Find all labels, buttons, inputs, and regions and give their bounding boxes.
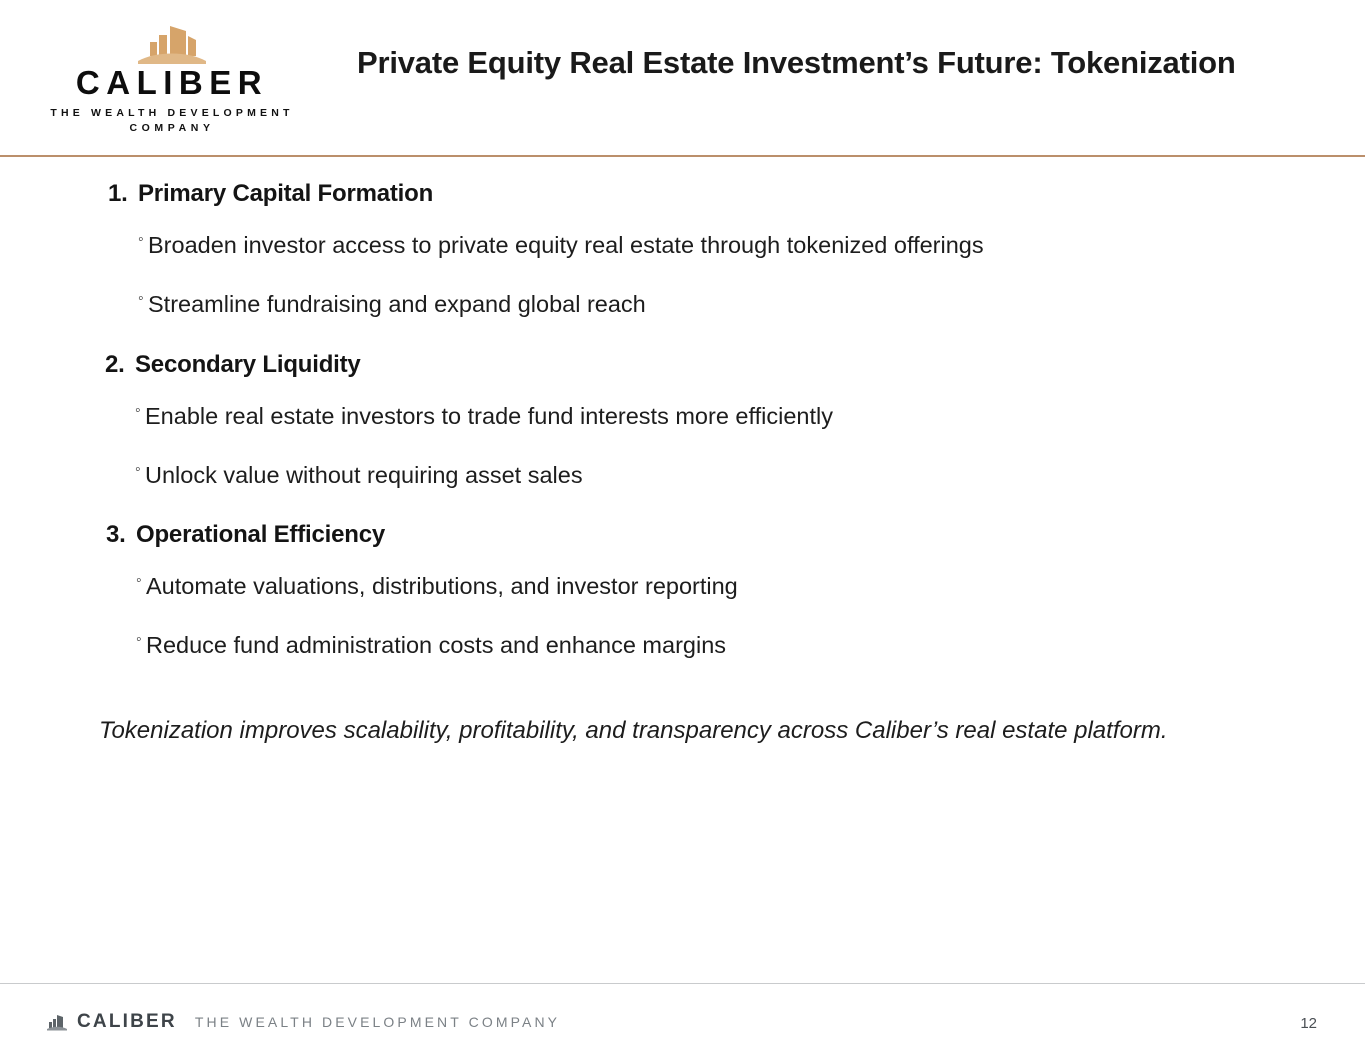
numbered-item-2: 2. Secondary Liquidity ◦ Enable real est… (99, 347, 1365, 494)
list-item-text: Automate valuations, distributions, and … (146, 569, 1191, 604)
brand-logo: CALIBER THE WEALTH DEVELOPMENT COMPANY (46, 22, 298, 138)
slide: CALIBER THE WEALTH DEVELOPMENT COMPANY P… (0, 0, 1365, 1055)
footer-brand-name: CALIBER (77, 1011, 177, 1033)
numbered-item-3-label: Operational Efficiency (136, 517, 385, 553)
hollow-circle-bullet-icon: ◦ (102, 287, 148, 311)
list-item: ◦ Automate valuations, distributions, an… (100, 569, 1365, 604)
logo-wordmark: CALIBER (76, 66, 268, 101)
hollow-circle-bullet-icon: ◦ (100, 628, 146, 652)
numbered-item-3-bullets: ◦ Automate valuations, distributions, an… (100, 569, 1365, 664)
hollow-circle-bullet-icon: ◦ (102, 228, 148, 252)
list-item: ◦ Unlock value without requiring asset s… (99, 458, 1365, 493)
list-item-text: Reduce fund administration costs and enh… (146, 628, 1191, 663)
list-item: ◦ Enable real estate investors to trade … (99, 399, 1365, 434)
footer-brand: CALIBER THE WEALTH DEVELOPMENT COMPANY (46, 1011, 560, 1033)
footer-divider (0, 983, 1365, 984)
list-item-text: Enable real estate investors to trade fu… (145, 399, 1190, 434)
numbered-item-2-bullets: ◦ Enable real estate investors to trade … (99, 399, 1365, 494)
slide-header: CALIBER THE WEALTH DEVELOPMENT COMPANY P… (0, 0, 1365, 156)
numbered-item-1-label: Primary Capital Formation (138, 176, 433, 212)
hollow-circle-bullet-icon: ◦ (99, 458, 145, 482)
numbered-item-2-label: Secondary Liquidity (135, 347, 361, 383)
hollow-circle-bullet-icon: ◦ (100, 569, 146, 593)
logo-tagline-line2: COMPANY (129, 122, 214, 134)
numbered-item-1-heading: 1. Primary Capital Formation (102, 176, 1365, 212)
numbered-item-3: 3. Operational Efficiency ◦ Automate val… (100, 517, 1365, 664)
hollow-circle-bullet-icon: ◦ (99, 399, 145, 423)
logo-tagline-line1: THE WEALTH DEVELOPMENT (50, 107, 293, 119)
closing-statement: Tokenization improves scalability, profi… (99, 714, 1299, 749)
page-number: 12 (1300, 1015, 1317, 1032)
numbered-item-3-heading: 3. Operational Efficiency (100, 517, 1365, 553)
slide-body: 1. Primary Capital Formation ◦ Broaden i… (0, 176, 1365, 748)
numbered-item-3-number: 3. (100, 517, 136, 553)
list-item: ◦ Broaden investor access to private equ… (102, 228, 1365, 263)
list-item-text: Unlock value without requiring asset sal… (145, 458, 1190, 493)
footer-tagline: THE WEALTH DEVELOPMENT COMPANY (195, 1014, 560, 1030)
list-item: ◦ Streamline fundraising and expand glob… (102, 287, 1365, 322)
numbered-item-2-number: 2. (99, 347, 135, 383)
numbered-item-1: 1. Primary Capital Formation ◦ Broaden i… (102, 176, 1365, 323)
list-item-text: Broaden investor access to private equit… (148, 228, 1193, 263)
header-divider (0, 155, 1365, 157)
numbered-item-2-heading: 2. Secondary Liquidity (99, 347, 1365, 383)
caliber-buildings-icon (136, 22, 208, 64)
list-item: ◦ Reduce fund administration costs and e… (100, 628, 1365, 663)
slide-footer: CALIBER THE WEALTH DEVELOPMENT COMPANY 1… (0, 1005, 1365, 1045)
list-item-text: Streamline fundraising and expand global… (148, 287, 1193, 322)
numbered-item-1-bullets: ◦ Broaden investor access to private equ… (102, 228, 1365, 323)
caliber-buildings-icon (46, 1014, 68, 1031)
page-title: Private Equity Real Estate Investment’s … (357, 42, 1257, 84)
numbered-item-1-number: 1. (102, 176, 138, 212)
